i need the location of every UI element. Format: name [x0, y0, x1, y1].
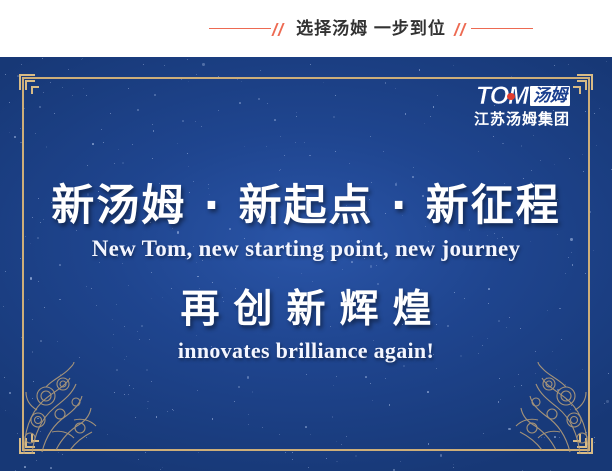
page-header: 选择汤姆 一步到位	[0, 0, 612, 57]
floral-scroll-ornament-bottom-right	[476, 362, 596, 457]
header-slogan: 选择汤姆 一步到位	[289, 20, 453, 37]
header-inner: 选择汤姆 一步到位	[0, 20, 612, 37]
hero-banner: TOM 汤姆 江苏汤姆集团 新汤姆 · 新起点 · 新征程 New Tom, n…	[0, 57, 612, 471]
logo-brand-cn: 汤姆	[530, 86, 570, 107]
double-slash-icon-right	[453, 21, 471, 37]
logo-brand-latin-text: TOM	[476, 82, 528, 110]
headline-primary-en: New Tom, new starting point, new journey	[0, 236, 612, 262]
fret-corner-icon-top-right	[571, 70, 597, 96]
fret-corner-icon-top-left	[15, 70, 41, 96]
header-rule-left	[209, 28, 271, 29]
logo-brand-latin: TOM	[476, 84, 528, 109]
header-rule-right	[471, 28, 533, 29]
banner-page: 选择汤姆 一步到位	[0, 0, 612, 471]
headline-primary-cn: 新汤姆 · 新起点 · 新征程	[0, 182, 612, 230]
double-slash-icon-left	[271, 21, 289, 37]
logo-company-name: 江苏汤姆集团	[448, 112, 570, 129]
floral-scroll-ornament-bottom-left	[16, 362, 136, 457]
logo-red-dot-icon	[507, 93, 515, 100]
headline-secondary-cn: 再创新辉煌	[0, 288, 612, 332]
logo-top-row: TOM 汤姆	[448, 83, 570, 109]
headline-secondary-en: innovates brilliance again!	[0, 338, 612, 364]
company-logo: TOM 汤姆 江苏汤姆集团	[448, 83, 570, 129]
hero-copy: 新汤姆 · 新起点 · 新征程 New Tom, new starting po…	[0, 182, 612, 364]
